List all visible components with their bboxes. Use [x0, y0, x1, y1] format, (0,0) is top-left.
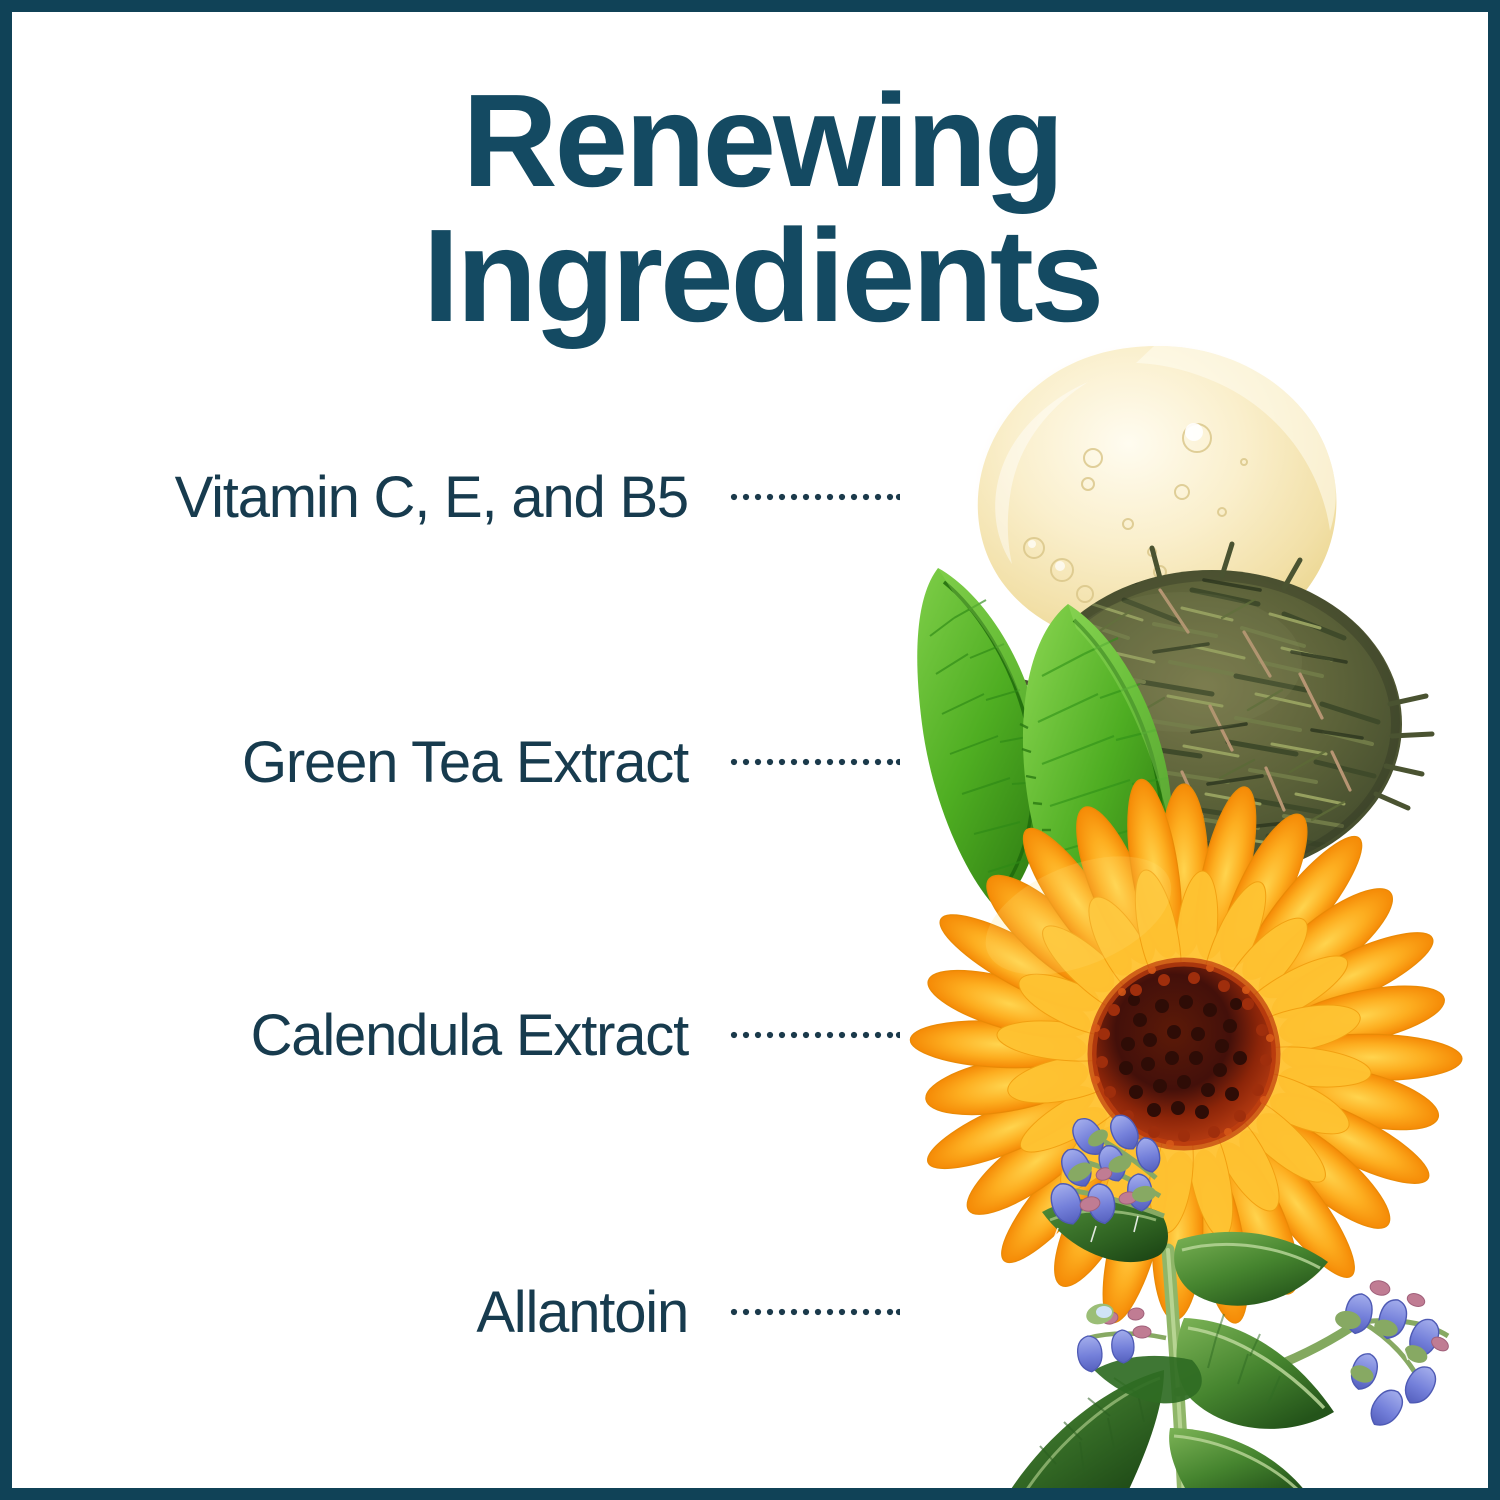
ingredient-label-green-tea: Green Tea Extract: [242, 729, 688, 796]
comfrey-flower-cluster-right: [1334, 1279, 1451, 1450]
title-line-2: Ingredients: [12, 209, 1500, 344]
infographic-canvas: Renewing Ingredients Vitamin C, E, and B…: [12, 12, 1488, 1488]
list-item: Green Tea Extract: [12, 727, 922, 797]
ingredient-label-vitamins: Vitamin C, E, and B5: [175, 464, 688, 531]
dotted-leader-icon: [730, 1031, 900, 1039]
ingredient-imagery-column: [892, 332, 1492, 1500]
ingredients-infographic: Renewing Ingredients Vitamin C, E, and B…: [0, 0, 1500, 1500]
list-item: Vitamin C, E, and B5: [12, 462, 922, 532]
dotted-leader-icon: [730, 1308, 900, 1316]
ingredient-label-allantoin: Allantoin: [476, 1279, 688, 1346]
dotted-leader-icon: [730, 493, 900, 501]
dotted-leader-icon: [730, 758, 900, 766]
page-title: Renewing Ingredients: [12, 74, 1500, 343]
list-item: Allantoin: [12, 1277, 922, 1347]
title-line-1: Renewing: [12, 74, 1500, 209]
ingredient-label-calendula: Calendula Extract: [251, 1002, 688, 1069]
list-item: Calendula Extract: [12, 1000, 922, 1070]
